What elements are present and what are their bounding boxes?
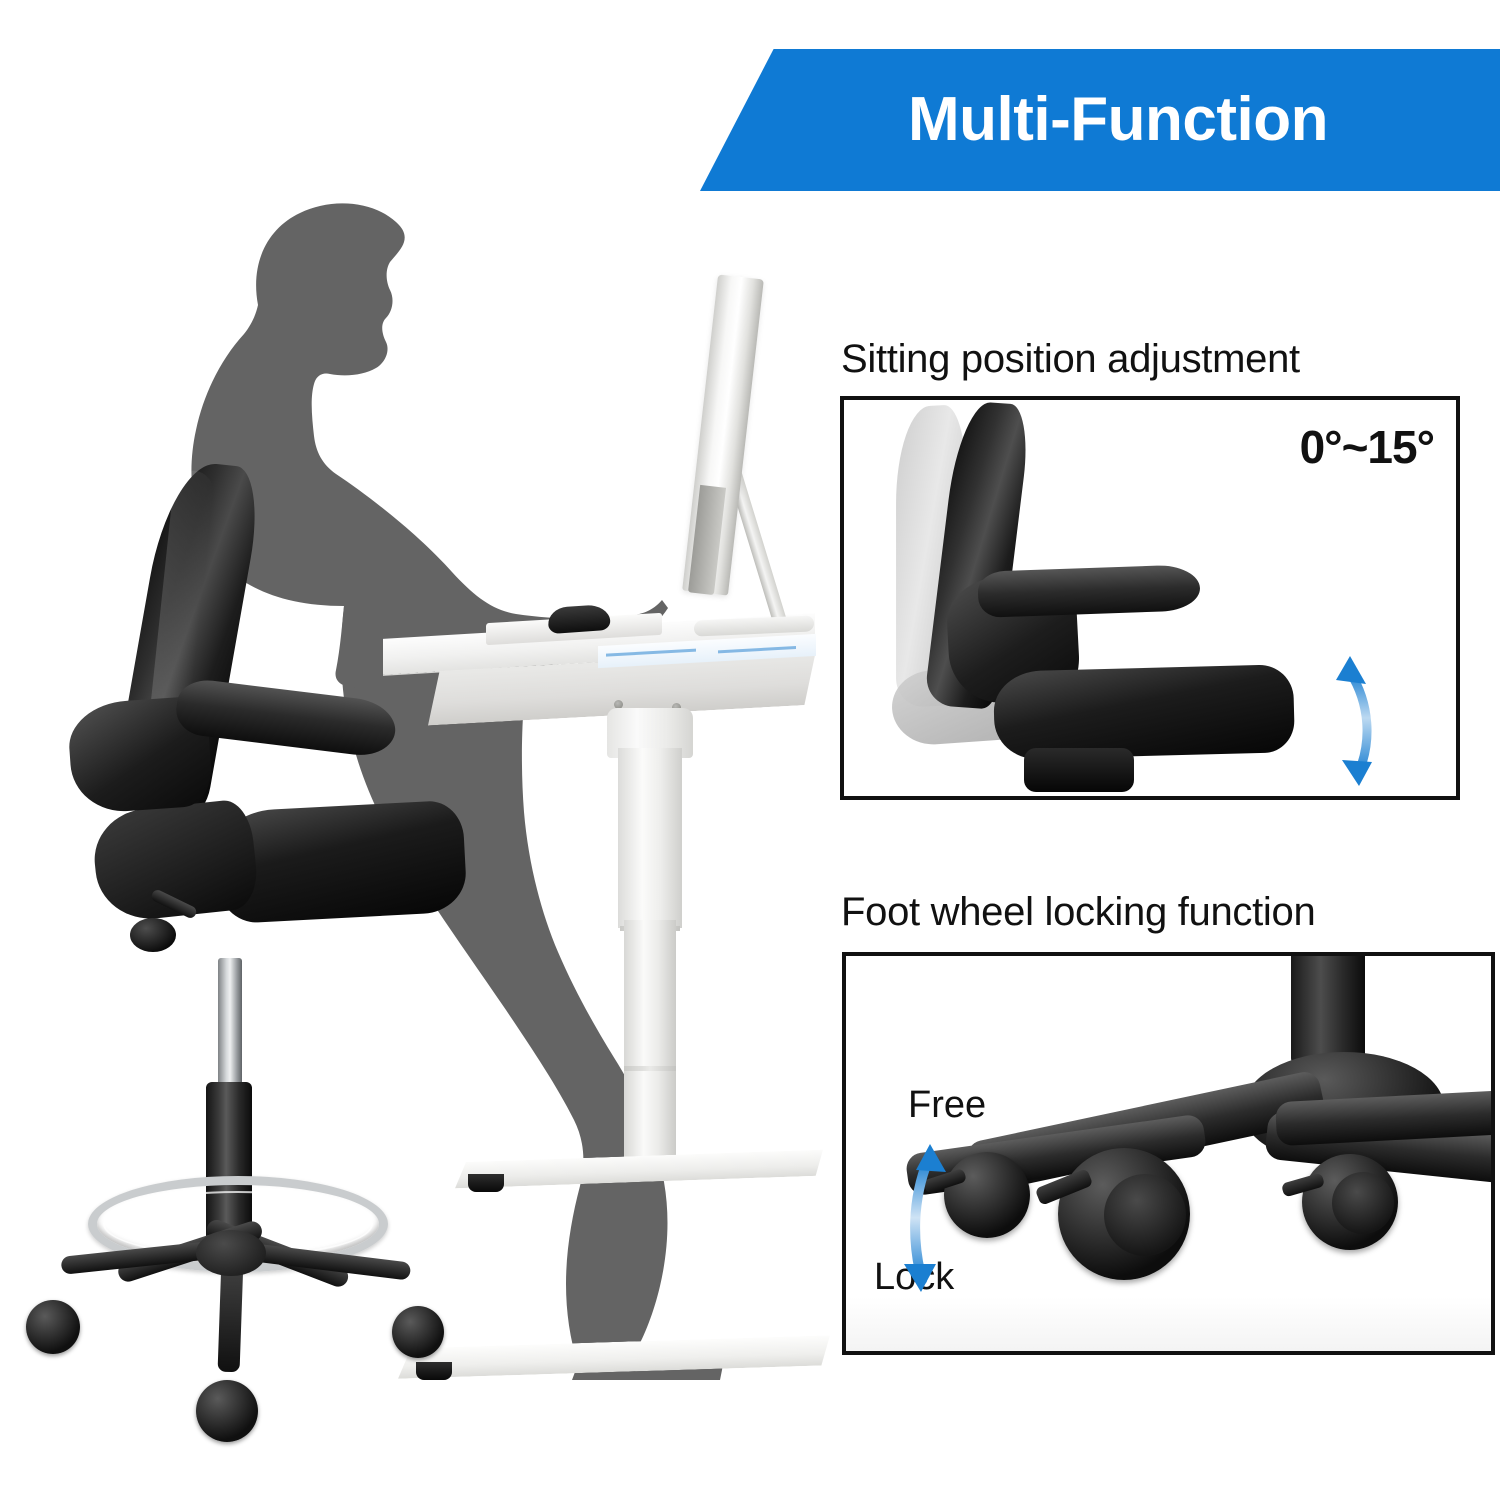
caster-hub [1332, 1172, 1394, 1234]
base-hub [196, 1230, 266, 1276]
chair-seat-cushion [993, 664, 1295, 760]
desk-column-lower [624, 920, 676, 1180]
paper-line [606, 649, 696, 657]
paper-line [718, 646, 796, 653]
caster-hub [1104, 1174, 1186, 1256]
label-free: Free [908, 1084, 986, 1127]
banner-title: Multi-Function [872, 89, 1328, 151]
caster-wheel [392, 1306, 444, 1358]
infographic-canvas: Multi-Function Sitting position adjustme… [0, 0, 1500, 1500]
tilt-adjust-knob [130, 918, 176, 952]
desk-column-upper [618, 748, 682, 928]
section-heading-sitting-position: Sitting position adjustment [841, 337, 1300, 382]
floor-surface [846, 1297, 1491, 1351]
tilt-range-badge: 0°~15° [1300, 420, 1434, 474]
chair-armrest [977, 564, 1200, 618]
panel-sitting-position-adjustment: 0°~15° [840, 396, 1460, 800]
chair-seat-mechanism [1024, 748, 1134, 792]
chair-gas-cylinder-chrome [218, 958, 242, 1098]
chair-center-column [1291, 952, 1365, 1066]
caster-wheel [196, 1380, 258, 1442]
desk-glide [468, 1174, 504, 1192]
desk-glide [416, 1362, 452, 1380]
caster-wheel [26, 1300, 80, 1354]
panel-foot-wheel-locking-function: Free Lock [842, 952, 1495, 1355]
free-lock-double-arrow-icon [894, 1138, 964, 1298]
banner: Multi-Function [700, 49, 1500, 191]
tilt-range-double-arrow-icon [1326, 650, 1396, 790]
desk-column-joint [624, 1066, 676, 1071]
section-heading-foot-wheel-locking: Foot wheel locking function [841, 890, 1315, 935]
